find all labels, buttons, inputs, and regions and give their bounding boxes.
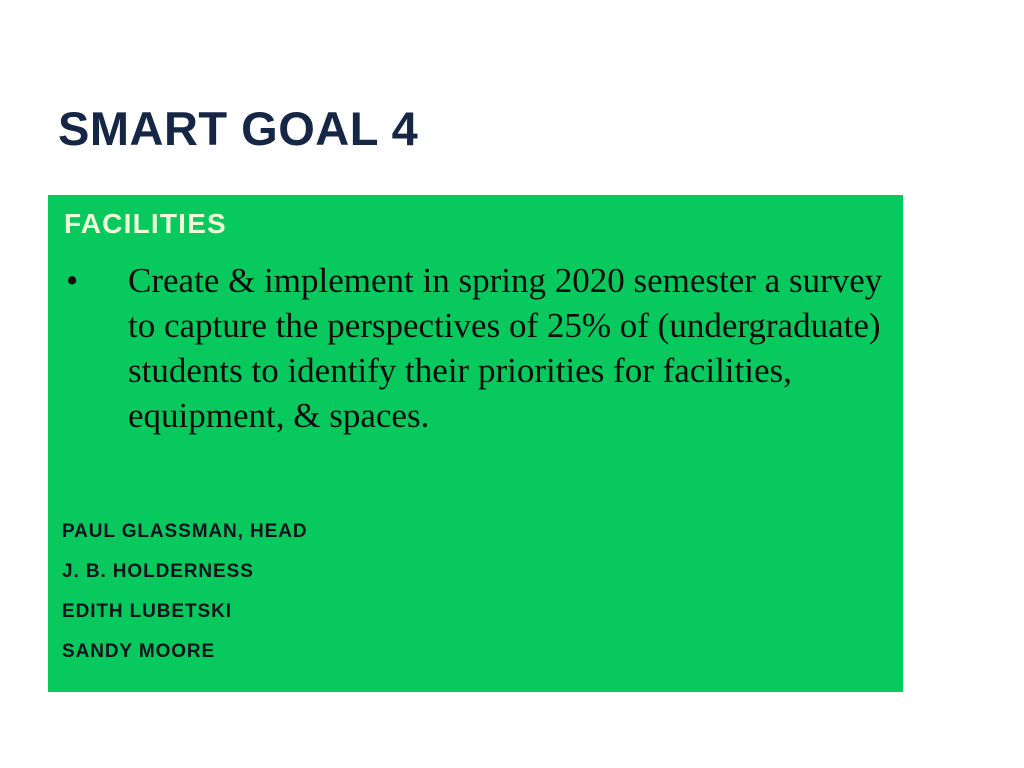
list-item: SANDY MOORE [62,632,307,672]
bullet-list: • Create & implement in spring 2020 seme… [62,258,894,438]
panel-heading: FACILITIES [64,207,227,241]
bullet-marker-icon: • [66,258,78,303]
list-item: • Create & implement in spring 2020 seme… [62,258,894,438]
member-list: PAUL GLASSMAN, HEAD J. B. HOLDERNESS EDI… [62,512,307,672]
page-title: SMART GOAL 4 [58,104,418,153]
slide-canvas: SMART GOAL 4 FACILITIES • Create & imple… [0,0,1024,768]
list-item: PAUL GLASSMAN, HEAD [62,512,307,552]
list-item: EDITH LUBETSKI [62,592,307,632]
list-item: J. B. HOLDERNESS [62,552,307,592]
content-panel: FACILITIES • Create & implement in sprin… [48,195,903,692]
bullet-text: Create & implement in spring 2020 semest… [128,261,882,435]
